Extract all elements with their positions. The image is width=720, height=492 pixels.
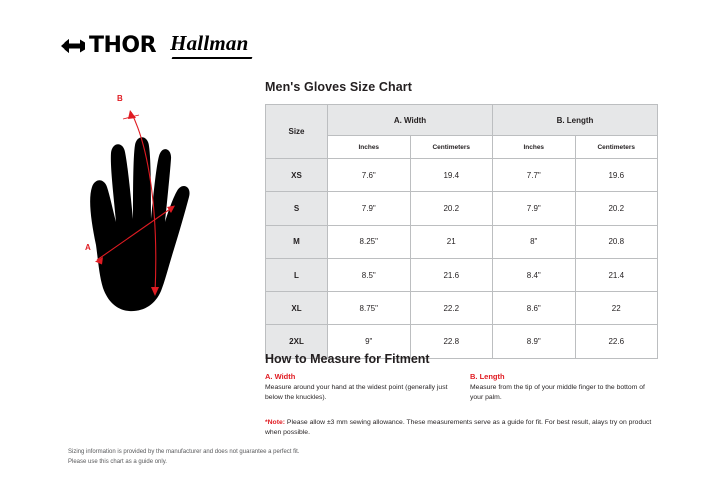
header-group-width: A. Width [328, 105, 493, 136]
cell-width-inches: 8.5" [328, 258, 411, 291]
footer-line-1: Sizing information is provided by the ma… [68, 448, 398, 458]
cell-width-inches: 8.25" [328, 225, 411, 258]
howto-length-heading: B. Length [470, 372, 657, 381]
hallman-logo: Hallman [170, 33, 248, 59]
cell-width-inches: 7.6" [328, 159, 411, 192]
hallman-underline-icon [172, 57, 253, 59]
fit-note-body: Please allow ±3 mm sewing allowance. The… [265, 419, 651, 436]
table-row: M 8.25" 21 8" 20.8 [266, 225, 658, 258]
howto-width-body: Measure around your hand at the widest p… [265, 383, 452, 403]
header-group-length: B. Length [493, 105, 658, 136]
cell-width-centimeters: 19.4 [410, 159, 493, 192]
cell-length-centimeters: 22 [575, 292, 658, 325]
cell-width-centimeters: 20.2 [410, 192, 493, 225]
table-row: S 7.9" 20.2 7.9" 20.2 [266, 192, 658, 225]
cell-length-inches: 7.9" [493, 192, 576, 225]
cell-size: XS [266, 159, 328, 192]
thor-wordmark: THOR [89, 35, 156, 57]
header-width-inches: Inches [328, 136, 411, 159]
table-header-row-groups: Size A. Width B. Length [266, 105, 658, 136]
fit-note: *Note: Please allow ±3 mm sewing allowan… [265, 418, 657, 438]
cell-size: XL [266, 292, 328, 325]
cell-length-centimeters: 20.8 [575, 225, 658, 258]
cell-width-inches: 7.9" [328, 192, 411, 225]
table-row: XS 7.6" 19.4 7.7" 19.6 [266, 159, 658, 192]
brand-logo-row: THOR Hallman [60, 33, 248, 59]
cell-width-centimeters: 21 [410, 225, 493, 258]
thor-hammer-icon [60, 33, 86, 59]
cell-width-centimeters: 22.2 [410, 292, 493, 325]
table-body: XS 7.6" 19.4 7.7" 19.6 S 7.9" 20.2 7.9" … [266, 159, 658, 359]
cell-width-inches: 8.75" [328, 292, 411, 325]
cell-length-inches: 8.4" [493, 258, 576, 291]
size-chart-table: Size A. Width B. Length Inches Centimete… [265, 104, 658, 359]
cell-length-centimeters: 21.4 [575, 258, 658, 291]
footer-disclaimer: Sizing information is provided by the ma… [68, 448, 398, 467]
table-row: XL 8.75" 22.2 8.6" 22 [266, 292, 658, 325]
cell-width-centimeters: 21.6 [410, 258, 493, 291]
howto-columns: A. Width Measure around your hand at the… [265, 372, 657, 403]
thor-logo: THOR [60, 33, 156, 59]
howto-length-body: Measure from the tip of your middle fing… [470, 383, 657, 403]
cell-length-inches: 8" [493, 225, 576, 258]
page-title: Men's Gloves Size Chart [265, 80, 412, 94]
hand-measurement-illustration: B A [55, 95, 240, 325]
cell-length-centimeters: 22.6 [575, 325, 658, 358]
cell-length-centimeters: 19.6 [575, 159, 658, 192]
cell-length-inches: 8.6" [493, 292, 576, 325]
cell-size: L [266, 258, 328, 291]
header-size: Size [266, 105, 328, 159]
size-chart-page: THOR Hallman B A Men's Gloves Size Chart [0, 0, 720, 492]
cell-size: S [266, 192, 328, 225]
howto-width-block: A. Width Measure around your hand at the… [265, 372, 452, 403]
callout-label-b: B [117, 94, 123, 103]
cell-length-inches: 8.9" [493, 325, 576, 358]
fit-note-label: *Note: [265, 419, 285, 426]
howto-title: How to Measure for Fitment [265, 352, 430, 366]
callout-label-a: A [85, 243, 91, 252]
howto-width-heading: A. Width [265, 372, 452, 381]
cell-length-centimeters: 20.2 [575, 192, 658, 225]
cell-size: M [266, 225, 328, 258]
header-length-inches: Inches [493, 136, 576, 159]
footer-line-2: Please use this chart as a guide only. [68, 458, 398, 468]
howto-length-block: B. Length Measure from the tip of your m… [470, 372, 657, 403]
header-width-centimeters: Centimeters [410, 136, 493, 159]
header-length-centimeters: Centimeters [575, 136, 658, 159]
cell-length-inches: 7.7" [493, 159, 576, 192]
table-row: L 8.5" 21.6 8.4" 21.4 [266, 258, 658, 291]
hallman-wordmark: Hallman [170, 31, 248, 55]
